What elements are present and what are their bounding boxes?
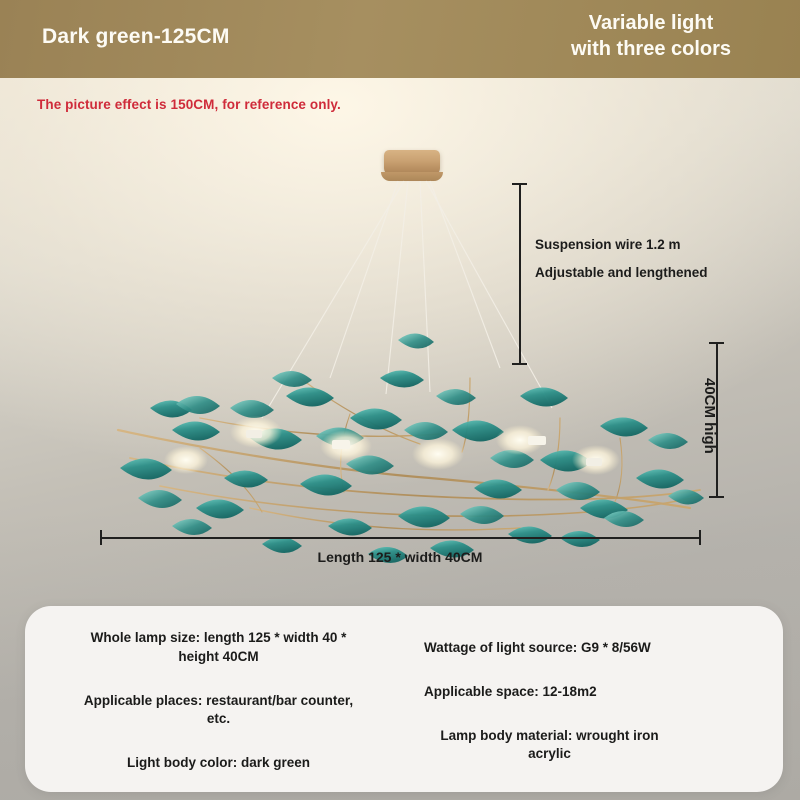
height-dimension-label: 40CM high [701,378,718,454]
suspension-dim-tick-bottom [512,363,527,365]
suspension-text-line-1: Suspension wire 1.2 m [535,231,708,259]
spec-applicable-places: Applicable places: restaurant/bar counte… [39,692,398,728]
suspension-dimension-label: Suspension wire 1.2 m Adjustable and len… [535,231,708,288]
spec-wattage: Wattage of light source: G9 * 8/56W [424,639,783,657]
suspension-dim-tick-top [512,183,527,185]
spec-column-left: Whole lamp size: length 125 * width 40 *… [25,606,398,792]
product-spec-image: Dark green-125CM Variable light with thr… [0,0,800,800]
length-dim-tick-left [100,530,102,545]
spec-column-right: Wattage of light source: G9 * 8/56W Appl… [398,606,783,792]
header-band: Dark green-125CM Variable light with thr… [0,0,800,78]
spec-lamp-size: Whole lamp size: length 125 * width 40 *… [39,629,398,665]
tagline-line-2: with three colors [536,37,766,63]
tagline-line-1: Variable light [536,11,766,37]
suspension-dim-line [519,183,521,365]
suspension-text-line-2: Adjustable and lengthened [535,259,708,287]
specification-card: Whole lamp size: length 125 * width 40 *… [25,606,783,792]
height-dim-tick-top [709,342,724,344]
height-dim-tick-bottom [709,496,724,498]
length-dim-line [100,537,700,539]
page-title: Dark green-125CM [42,25,230,49]
spec-lamp-material: Lamp body material: wrought iron acrylic [424,727,783,763]
spec-applicable-space: Applicable space: 12-18m2 [424,683,783,701]
length-dim-tick-right [699,530,701,545]
header-tagline: Variable light with three colors [536,11,766,62]
length-dimension-label: Length 125 * width 40CM [100,549,700,565]
spec-light-body-color: Light body color: dark green [39,754,398,772]
